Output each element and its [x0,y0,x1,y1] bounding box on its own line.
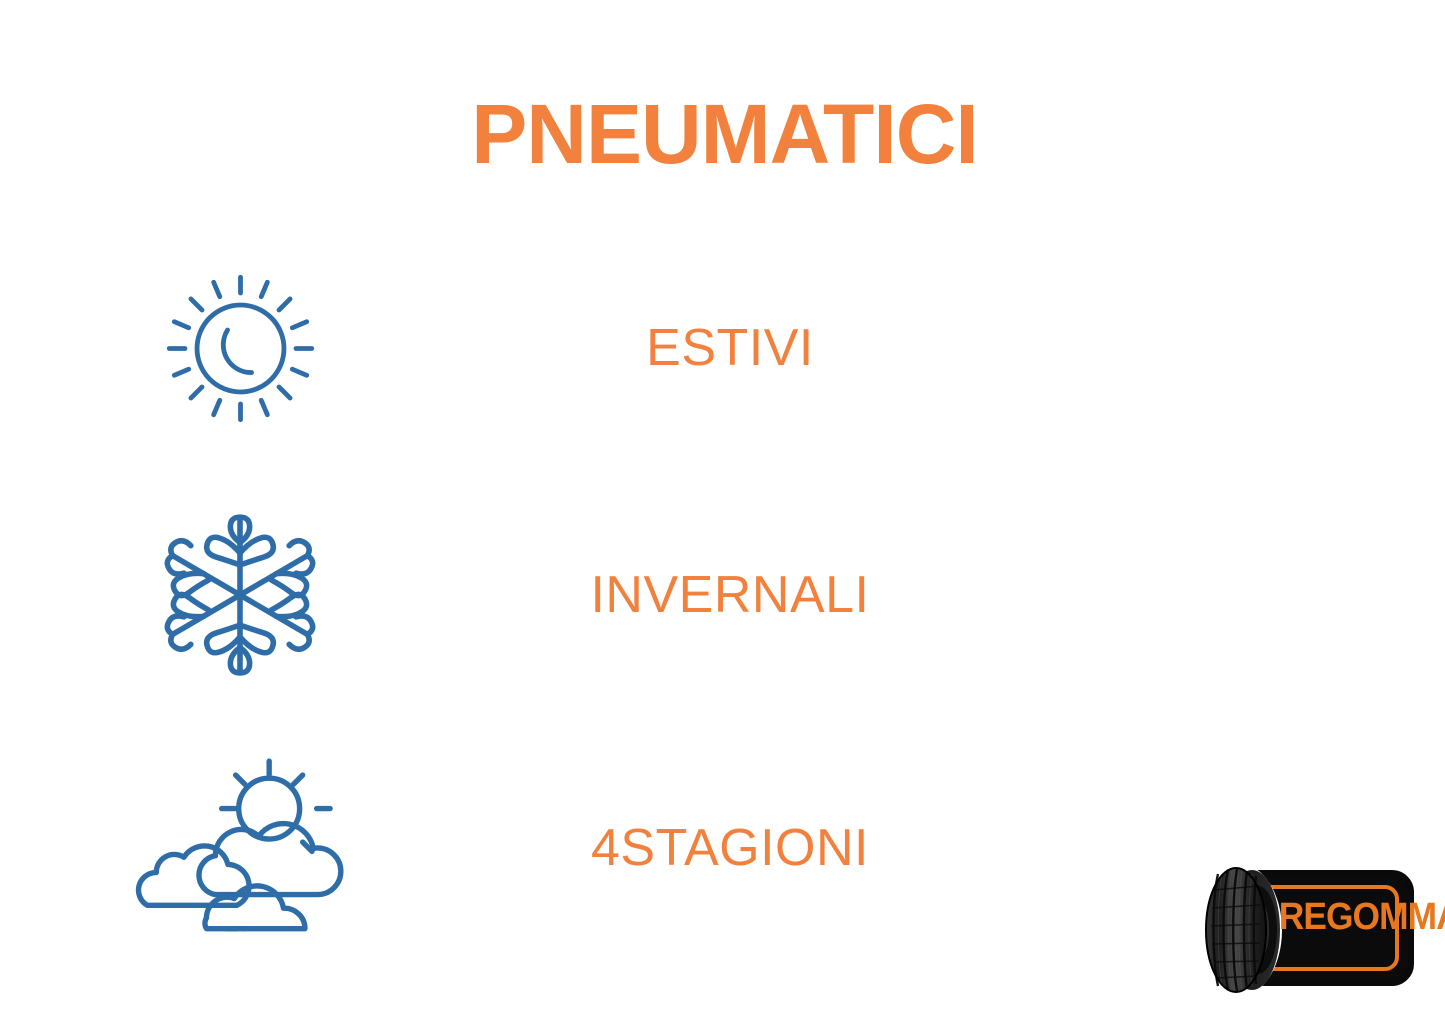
tyre-type-label-cell: ESTIVI [480,248,980,448]
tyre-type-row-invernali: INVERNALI [0,495,1445,695]
poster-canvas: PNEUMATICI [0,0,1445,1022]
sun-icon [148,256,333,441]
logo-text: REGOMMA [1279,898,1405,936]
tyre-type-label-4stagioni: 4STAGIONI [591,822,869,874]
tyre-type-label-cell: 4STAGIONI [480,748,980,948]
tyre-type-label-estivi: ESTIVI [646,322,814,374]
page-title-text: PNEUMATICI [467,92,977,176]
page-title: PNEUMATICI [0,92,1445,176]
tyre-type-icon-cell [0,248,480,448]
tyre-type-icon-cell [0,748,480,948]
snowflake-icon [152,504,328,686]
tyre-type-row-estivi: ESTIVI [0,248,1445,448]
tyre-type-icon-cell [0,495,480,695]
tyre-type-label-cell: INVERNALI [480,495,980,695]
tyre-type-label-invernali: INVERNALI [590,569,869,621]
regomma-logo[interactable]: REGOMMA [1196,862,1418,998]
sun-behind-cloud-icon [133,758,348,938]
